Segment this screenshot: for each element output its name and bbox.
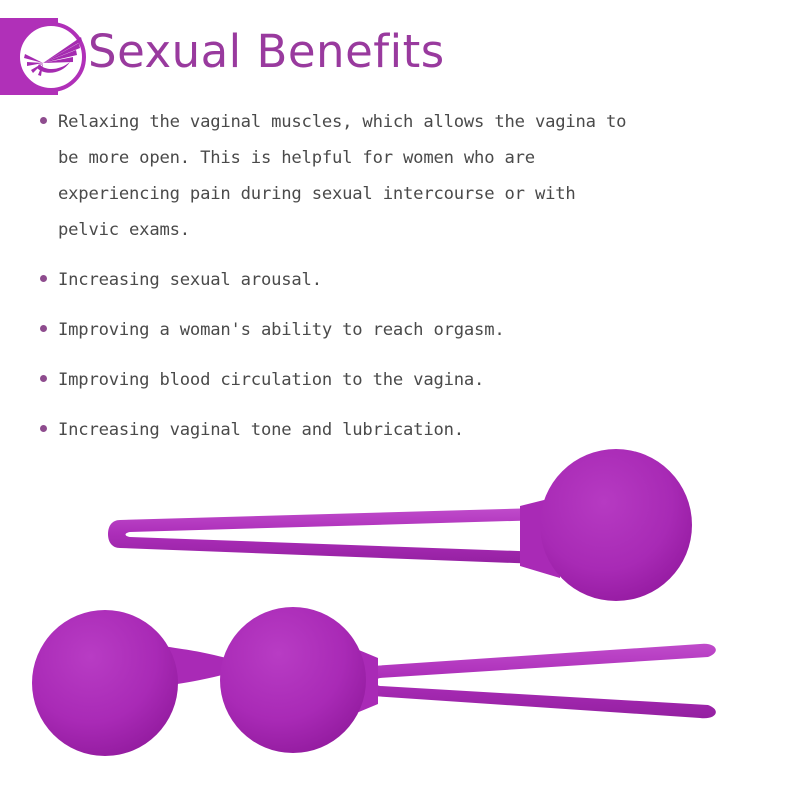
double-ball-left	[32, 610, 178, 756]
list-item-label: Increasing sexual arousal.	[58, 270, 322, 290]
product-photo	[0, 430, 800, 800]
page-title: Sexual Benefits	[88, 26, 445, 78]
retrieval-cord	[108, 508, 554, 565]
page-header: Sexual Benefits	[0, 0, 800, 100]
bullet-dot-icon	[40, 325, 47, 332]
single-ball	[540, 449, 692, 601]
list-item: Relaxing the vaginal muscles, which allo…	[30, 104, 770, 248]
benefits-list: Relaxing the vaginal muscles, which allo…	[30, 104, 770, 448]
list-item: Increasing sexual arousal.	[30, 262, 770, 298]
list-item-label: Improving a woman's ability to reach org…	[58, 320, 505, 340]
list-item: Improving a woman's ability to reach org…	[30, 312, 770, 348]
single-ball-kegel-trainer	[108, 449, 692, 601]
fan-circle-logo-icon	[15, 21, 87, 93]
page-root: Sexual Benefits Relaxing the vaginal mus…	[0, 0, 800, 800]
double-ball-kegel-trainer	[32, 607, 716, 756]
retrieval-cord	[372, 644, 716, 719]
bullet-dot-icon	[40, 375, 47, 382]
bullet-dot-icon	[40, 275, 47, 282]
bullet-dot-icon	[40, 117, 47, 124]
double-ball-right	[220, 607, 366, 753]
list-item-label: Improving blood circulation to the vagin…	[58, 370, 484, 390]
list-item: Improving blood circulation to the vagin…	[30, 362, 770, 398]
list-item-label: Relaxing the vaginal muscles, which allo…	[58, 112, 626, 240]
